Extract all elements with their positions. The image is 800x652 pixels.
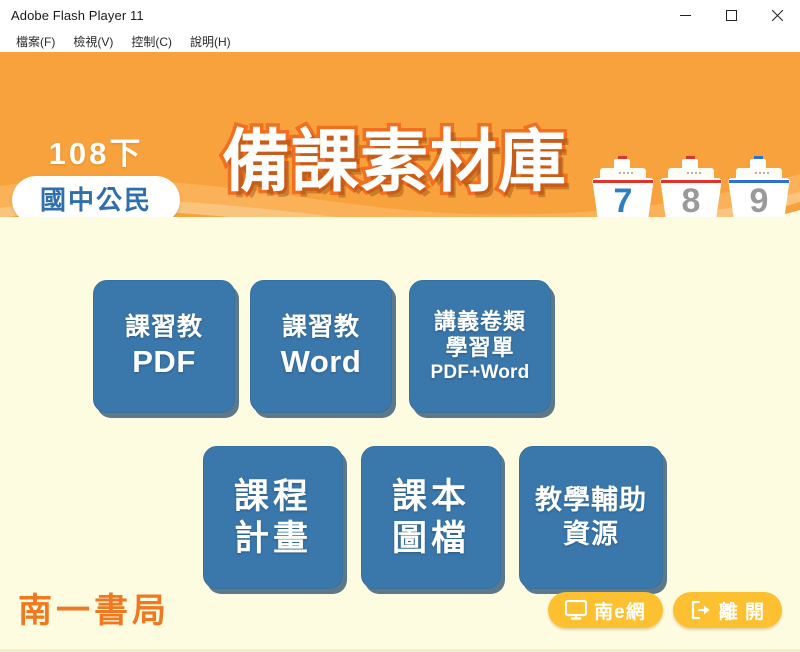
nani-web-button[interactable]: 南e網 xyxy=(548,592,663,628)
footer-actions: 南e網 離 開 xyxy=(548,592,782,628)
tile-line-1: 課習教 xyxy=(125,313,203,343)
tile-teaching-resources[interactable]: 教學輔助 資源 xyxy=(519,446,663,589)
tile-course-plan[interactable]: 課程 計畫 xyxy=(203,446,343,589)
exit-icon xyxy=(690,600,712,620)
tile-textbook-images[interactable]: 課本 圖檔 xyxy=(361,446,501,589)
tile-line-2: 計畫 xyxy=(234,518,312,560)
close-icon xyxy=(772,10,783,21)
tile-line-2: PDF xyxy=(132,343,196,380)
portholes-icon xyxy=(687,172,709,175)
menu-item-file[interactable]: 檔案(F) xyxy=(8,31,63,52)
grade-number-8: 8 xyxy=(660,184,722,217)
header-banner: 108下 國中公民 備課素材庫 7 xyxy=(0,52,800,217)
title-bar: Adobe Flash Player 11 xyxy=(0,0,800,30)
tile-handouts-worksheets[interactable]: 講義卷類 學習單 PDF+Word xyxy=(409,280,551,413)
term-label: 108下 xyxy=(36,138,156,169)
tile-line-1: 講義卷類 xyxy=(434,309,526,335)
publisher-logo: 南一書局 xyxy=(18,594,170,628)
page-title: 備課素材庫 xyxy=(222,112,592,212)
grade-badge-9[interactable]: 9 xyxy=(728,156,790,217)
grade-badge-8[interactable]: 8 xyxy=(660,156,722,217)
close-button[interactable] xyxy=(754,0,800,30)
tile-line-2: 圖檔 xyxy=(392,518,470,560)
tile-line-3: PDF+Word xyxy=(431,361,530,385)
grade-selector: 7 8 xyxy=(592,156,792,217)
nani-web-label: 南e網 xyxy=(594,597,646,624)
tile-line-2: 資源 xyxy=(563,518,619,552)
exit-label: 離 開 xyxy=(719,597,765,624)
tile-line-1: 教學輔助 xyxy=(535,484,647,518)
exit-button[interactable]: 離 開 xyxy=(673,592,782,628)
footer-bar: 南一書局 南e網 離 開 xyxy=(0,582,800,652)
tile-line-1: 課本 xyxy=(392,476,470,518)
flash-stage: 108下 國中公民 備課素材庫 7 xyxy=(0,52,800,652)
grade-badge-7[interactable]: 7 xyxy=(592,156,654,217)
maximize-button[interactable] xyxy=(708,0,754,30)
tile-lesson-pdf[interactable]: 課習教 PDF xyxy=(93,280,235,413)
flash-player-window: Adobe Flash Player 11 檔案(F) 檢視(V xyxy=(0,0,800,652)
maximize-icon xyxy=(726,10,737,21)
tile-line-2: Word xyxy=(281,343,362,380)
tile-line-2: 學習單 xyxy=(445,335,514,361)
subject-label: 國中公民 xyxy=(40,187,152,213)
page-title-text: 備課素材庫 xyxy=(222,128,567,196)
tile-lesson-word[interactable]: 課習教 Word xyxy=(250,280,392,413)
monitor-icon xyxy=(565,600,587,620)
window-controls xyxy=(662,0,800,30)
menu-item-help[interactable]: 說明(H) xyxy=(182,31,239,52)
minimize-button[interactable] xyxy=(662,0,708,30)
grade-number-9: 9 xyxy=(728,184,790,217)
grade-number-7: 7 xyxy=(592,184,654,217)
portholes-icon xyxy=(755,172,777,175)
menu-bar: 檔案(F) 檢視(V) 控制(C) 說明(H) xyxy=(0,30,800,52)
tile-line-1: 課程 xyxy=(234,476,312,518)
portholes-icon xyxy=(619,172,641,175)
window-title: Adobe Flash Player 11 xyxy=(0,8,144,23)
tile-line-1: 課習教 xyxy=(282,313,360,343)
subject-badge: 國中公民 xyxy=(12,176,180,217)
menu-item-control[interactable]: 控制(C) xyxy=(123,31,180,52)
minimize-icon xyxy=(680,10,691,21)
menu-item-view[interactable]: 檢視(V) xyxy=(65,31,121,52)
